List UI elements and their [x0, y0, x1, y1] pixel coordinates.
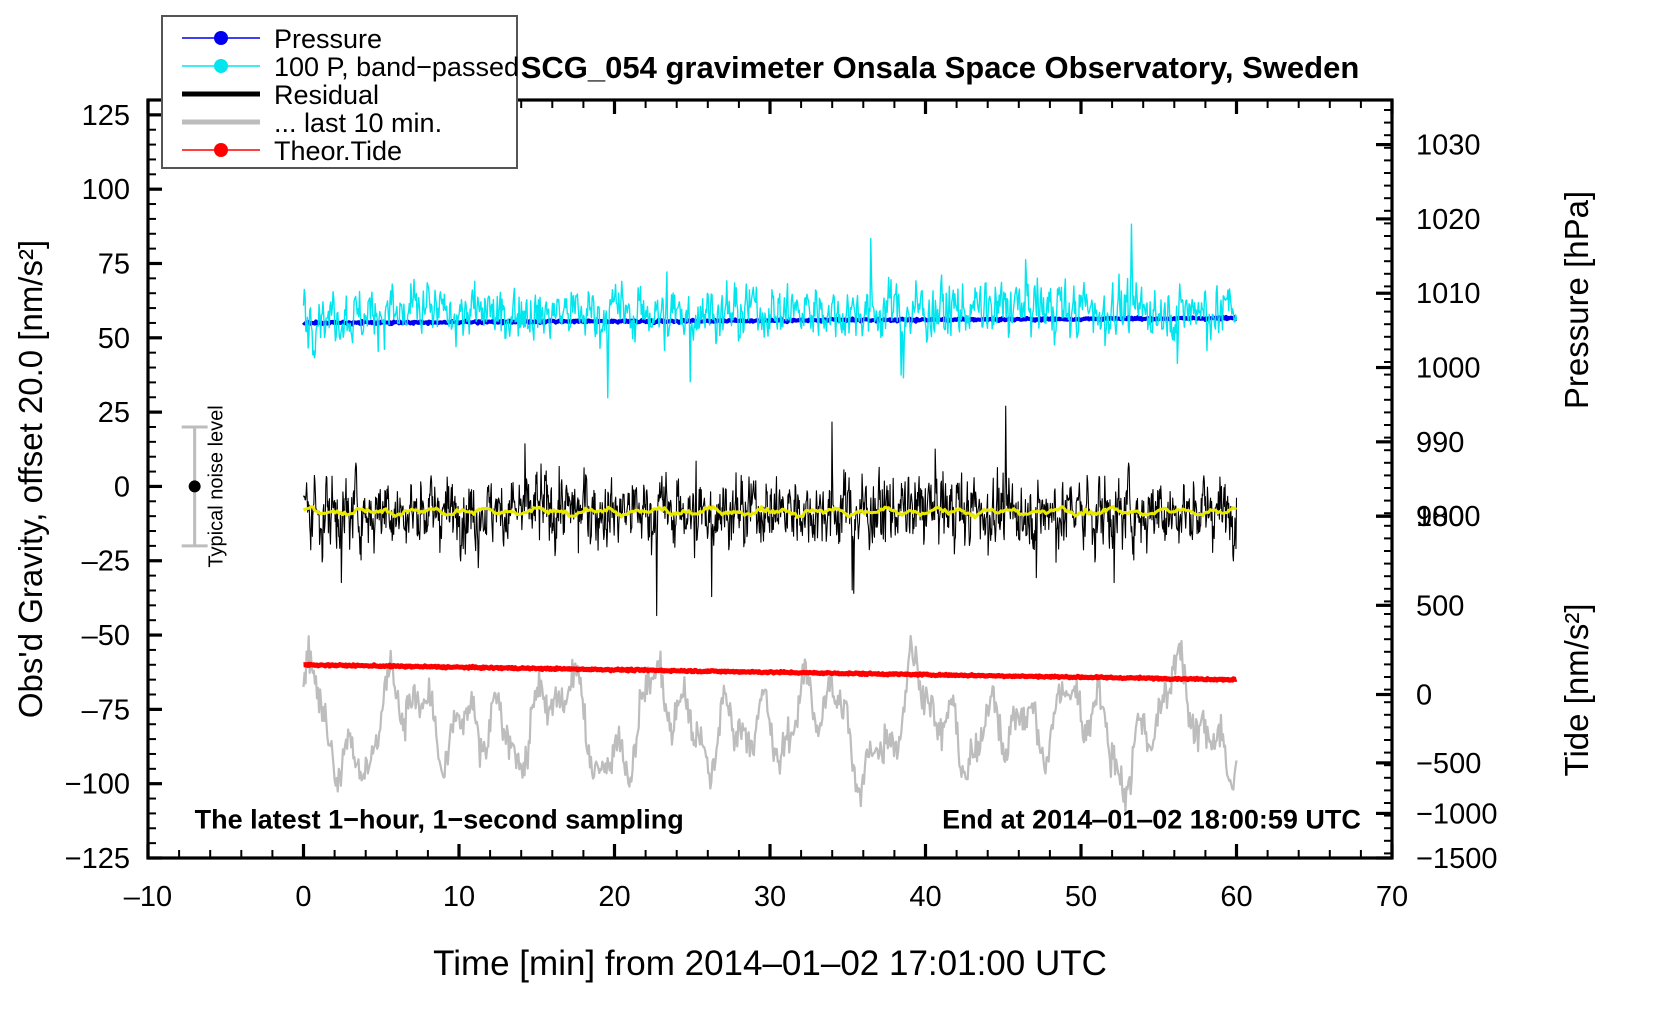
noise-level-label: Typical noise level	[206, 405, 228, 567]
tide-tick-label: −1500	[1416, 843, 1497, 875]
y-tick-label: ‒25	[82, 546, 130, 578]
x-tick-label: 40	[909, 881, 941, 913]
pressure-tick-label: 1020	[1416, 204, 1481, 236]
x-tick-label: 50	[1065, 881, 1097, 913]
chart-page: Typical noise level ‒1001020304050607012…	[0, 0, 1660, 1020]
y-tick-label: 50	[98, 323, 130, 355]
y-tick-label: 100	[82, 174, 130, 206]
bottom-left-note: The latest 1−hour, 1−second sampling	[195, 804, 684, 834]
y-tick-label: −100	[65, 769, 130, 801]
tide-tick-label: −500	[1416, 748, 1481, 780]
x-tick-label: 60	[1220, 881, 1252, 913]
tide-tick-label: 1000	[1416, 501, 1481, 533]
chart-title: SCG_054 gravimeter Onsala Space Observat…	[521, 50, 1360, 85]
x-tick-label: 10	[443, 881, 475, 913]
gravimeter-chart: Typical noise level ‒1001020304050607012…	[0, 0, 1660, 1020]
x-tick-label: 20	[598, 881, 630, 913]
legend-label: Theor.Tide	[274, 136, 402, 166]
pressure-tick-label: 1030	[1416, 130, 1481, 162]
y-tick-label: 25	[98, 397, 130, 429]
legend-label: Residual	[274, 80, 379, 110]
pressure-tick-label: 990	[1416, 427, 1464, 459]
pressure-tick-label: 1000	[1416, 353, 1481, 385]
tide-tick-label: −1000	[1416, 798, 1497, 830]
x-axis-title: Time [min] from 2014‒01‒02 17:01:00 UTC	[433, 944, 1107, 983]
pressure-axis-title: Pressure [hPa]	[1558, 191, 1595, 409]
pressure-tick-label: 1010	[1416, 278, 1481, 310]
legend-dot-marker	[214, 59, 228, 73]
legend-label: ... last 10 min.	[274, 108, 442, 138]
legend-dot-marker	[214, 143, 228, 157]
y-tick-label: 75	[98, 248, 130, 280]
y-tick-label: ‒75	[82, 694, 130, 726]
y-tick-label: −125	[65, 843, 130, 875]
y-tick-label: 0	[114, 471, 130, 503]
x-tick-label: 0	[295, 881, 311, 913]
y-axis-title: Obs'd Gravity, offset 20.0 [nm/s²]	[12, 240, 49, 718]
bottom-right-note: End at 2014‒01‒02 18:00:59 UTC	[942, 804, 1361, 834]
x-tick-label: 70	[1376, 881, 1408, 913]
chart-legend: Pressure100 P, band−passedResidual... la…	[162, 16, 519, 168]
x-tick-label: ‒10	[124, 881, 172, 913]
tide-tick-label: 0	[1416, 680, 1432, 712]
legend-label: Pressure	[274, 24, 382, 54]
legend-dot-marker	[214, 31, 228, 45]
legend-label: 100 P, band−passed	[274, 52, 519, 82]
y-tick-label: 125	[82, 100, 130, 132]
x-tick-label: 30	[754, 881, 786, 913]
tide-tick-label: 500	[1416, 590, 1464, 622]
tide-axis-title: Tide [nm/s²]	[1558, 604, 1595, 777]
y-tick-label: ‒50	[82, 620, 130, 652]
